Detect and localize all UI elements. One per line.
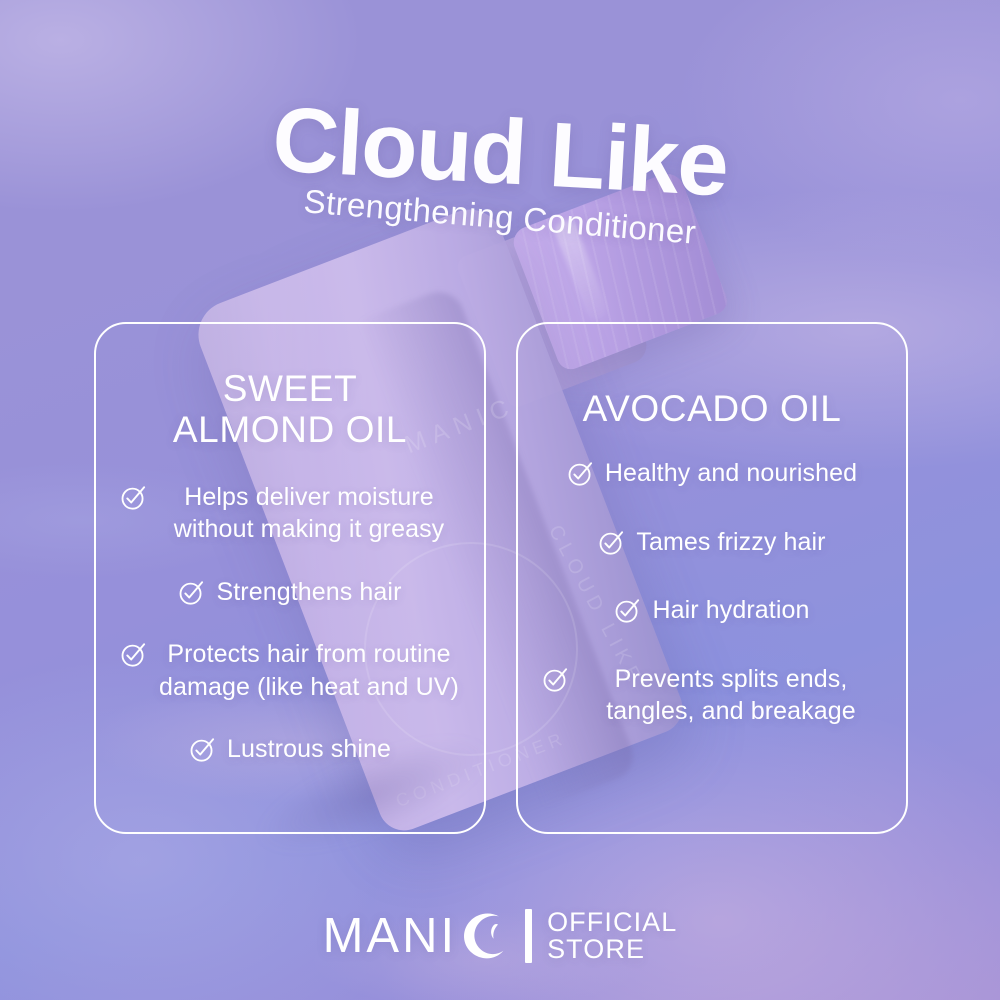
vertical-bar-divider: [525, 909, 532, 963]
ingredient-card-sweet-almond-oil: SWEET ALMOND OIL Helps deliver moisture …: [94, 322, 486, 834]
store-label-line-2: STORE: [547, 936, 677, 964]
benefit-list: Helps deliver moisture without making it…: [114, 481, 466, 766]
benefit-text: Strengthens hair: [216, 576, 401, 609]
check-circle-icon: [567, 460, 594, 487]
product-marketing-poster: MANIC CLOUD LIKE CONDITIONER Cloud Like …: [0, 0, 1000, 1000]
card-title: AVOCADO OIL: [583, 350, 842, 429]
list-item: Hair hydration: [536, 594, 888, 627]
check-circle-icon: [542, 666, 569, 693]
benefit-text: Lustrous shine: [227, 733, 391, 766]
check-circle-icon: [189, 736, 216, 763]
check-circle-icon: [120, 484, 147, 511]
benefit-text: Healthy and nourished: [605, 457, 857, 490]
list-item: Prevents splits ends, tangles, and break…: [536, 663, 888, 728]
benefit-text: Protects hair from routine damage (like …: [158, 638, 460, 703]
crescent-leaf-logo-icon: [457, 910, 507, 962]
list-item: Lustrous shine: [114, 733, 466, 766]
store-label: OFFICIAL STORE: [547, 909, 677, 964]
benefit-text: Helps deliver moisture without making it…: [158, 481, 460, 546]
check-circle-icon: [178, 579, 205, 606]
ingredient-card-avocado-oil: AVOCADO OIL Healthy and nourished: [516, 322, 908, 834]
check-circle-icon: [120, 641, 147, 668]
card-title-line-1: AVOCADO OIL: [583, 388, 842, 429]
check-circle-icon: [614, 597, 641, 624]
store-label-line-1: OFFICIAL: [547, 909, 677, 937]
benefit-text: Prevents splits ends, tangles, and break…: [580, 663, 882, 728]
card-title-line-2: ALMOND OIL: [173, 409, 407, 450]
card-title-line-1: SWEET: [223, 368, 358, 409]
list-item: Protects hair from routine damage (like …: [114, 638, 466, 703]
brand-name: MANI: [323, 912, 458, 961]
benefit-list: Healthy and nourished Tames frizzy hair: [536, 457, 888, 728]
list-item: Tames frizzy hair: [536, 526, 888, 559]
list-item: Healthy and nourished: [536, 457, 888, 490]
check-circle-icon: [598, 529, 625, 556]
list-item: Strengthens hair: [114, 576, 466, 609]
benefit-text: Tames frizzy hair: [636, 526, 825, 559]
list-item: Helps deliver moisture without making it…: [114, 481, 466, 546]
card-title: SWEET ALMOND OIL: [173, 350, 407, 451]
benefit-text: Hair hydration: [652, 594, 809, 627]
footer-brand-lockup: MANI OFFICIAL STORE: [0, 909, 1000, 964]
